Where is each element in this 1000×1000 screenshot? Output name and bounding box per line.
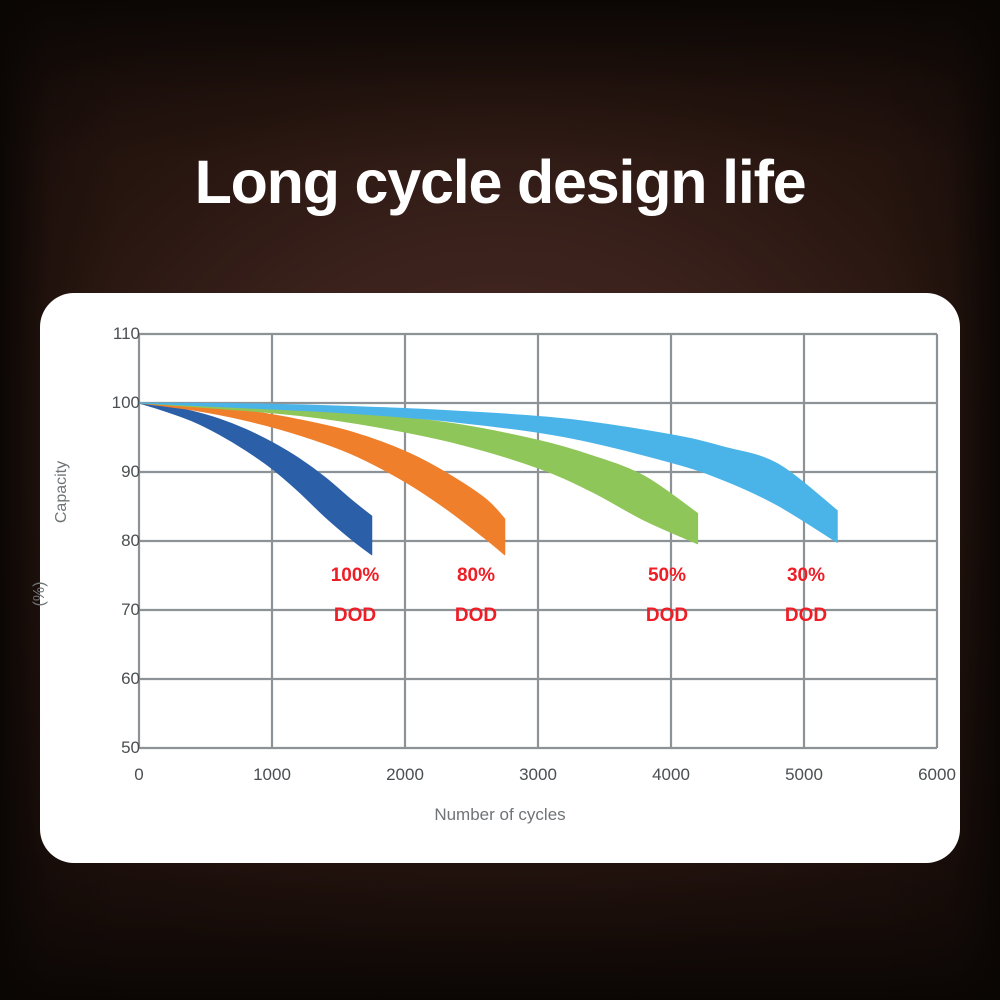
page-background: Long cycle design life Capacity (%) 110 … — [0, 0, 1000, 1000]
x-tick-6000: 6000 — [918, 765, 956, 785]
x-tick-1000: 1000 — [253, 765, 291, 785]
annotation-30-label: DOD — [785, 605, 827, 626]
capacity-vs-cycles-chart: Capacity (%) 110 100 90 80 70 60 50 0 10… — [40, 293, 960, 863]
chart-card: Capacity (%) 110 100 90 80 70 60 50 0 10… — [40, 293, 960, 863]
x-tick-3000: 3000 — [519, 765, 557, 785]
annotation-100-dod: 100% DOD — [331, 546, 380, 626]
annotation-50-label: DOD — [646, 605, 688, 626]
annotation-30-dod: 30% DOD — [785, 546, 827, 626]
annotation-50-pct: 50% — [648, 565, 686, 586]
x-tick-5000: 5000 — [785, 765, 823, 785]
annotation-80-label: DOD — [455, 605, 497, 626]
page-title: Long cycle design life — [0, 152, 1000, 213]
x-tick-0: 0 — [134, 765, 143, 785]
x-axis-title: Number of cycles — [40, 805, 960, 825]
annotation-100-pct: 100% — [331, 565, 380, 586]
x-tick-2000: 2000 — [386, 765, 424, 785]
annotation-100-label: DOD — [334, 605, 376, 626]
annotation-80-dod: 80% DOD — [455, 546, 497, 626]
annotation-50-dod: 50% DOD — [646, 546, 688, 626]
x-tick-4000: 4000 — [652, 765, 690, 785]
annotation-30-pct: 30% — [787, 565, 825, 586]
annotation-80-pct: 80% — [457, 565, 495, 586]
